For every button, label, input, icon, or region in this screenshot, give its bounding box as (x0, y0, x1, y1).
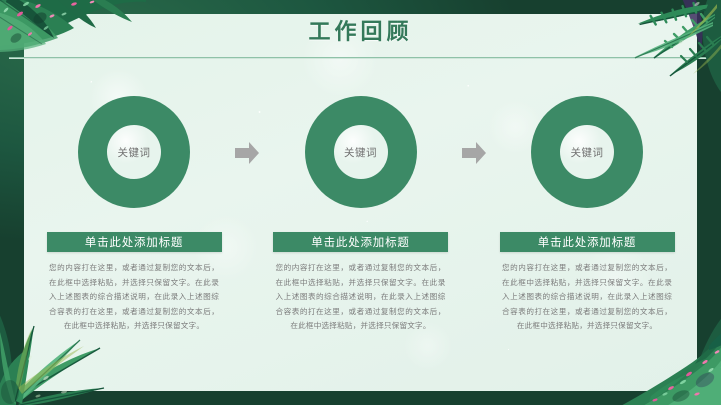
column-heading-3[interactable]: 单击此处添加标题 (500, 232, 675, 252)
keyword-ring-hole-3: 关键词 (560, 125, 614, 179)
keyword-ring-hole-1: 关键词 (107, 125, 161, 179)
slide-canvas: 工作回顾 关键词 单击此处添加标题 您的内容打在这里，或者通过复制您的文本后，在… (0, 0, 721, 405)
column-heading-1[interactable]: 单击此处添加标题 (47, 232, 222, 252)
keyword-ring-label-2: 关键词 (344, 145, 377, 160)
column-body-3: 您的内容打在这里，或者通过复制您的文本后，在此框中选择粘贴，并选择只保留文字。在… (502, 261, 672, 334)
title-divider (9, 57, 712, 59)
process-column-2[interactable]: 关键词 单击此处添加标题 您的内容打在这里，或者通过复制您的文本后，在此框中选择… (271, 96, 451, 334)
process-columns: 关键词 单击此处添加标题 您的内容打在这里，或者通过复制您的文本后，在此框中选择… (44, 96, 677, 334)
page-title: 工作回顾 (0, 14, 721, 46)
keyword-ring-label-1: 关键词 (118, 145, 151, 160)
keyword-ring-hole-2: 关键词 (334, 125, 388, 179)
process-column-1[interactable]: 关键词 单击此处添加标题 您的内容打在这里，或者通过复制您的文本后，在此框中选择… (44, 96, 224, 334)
keyword-ring-2[interactable]: 关键词 (305, 96, 417, 208)
keyword-ring-label-3: 关键词 (571, 145, 604, 160)
column-body-2: 您的内容打在这里，或者通过复制您的文本后，在此框中选择粘贴，并选择只保留文字。在… (276, 261, 446, 334)
column-body-1: 您的内容打在这里，或者通过复制您的文本后，在此框中选择粘贴，并选择只保留文字。在… (49, 261, 219, 334)
keyword-ring-1[interactable]: 关键词 (78, 96, 190, 208)
column-heading-2[interactable]: 单击此处添加标题 (273, 232, 448, 252)
process-column-3[interactable]: 关键词 单击此处添加标题 您的内容打在这里，或者通过复制您的文本后，在此框中选择… (497, 96, 677, 334)
arrow-right-icon-1 (233, 140, 261, 166)
keyword-ring-3[interactable]: 关键词 (531, 96, 643, 208)
arrow-right-icon-2 (460, 140, 488, 166)
